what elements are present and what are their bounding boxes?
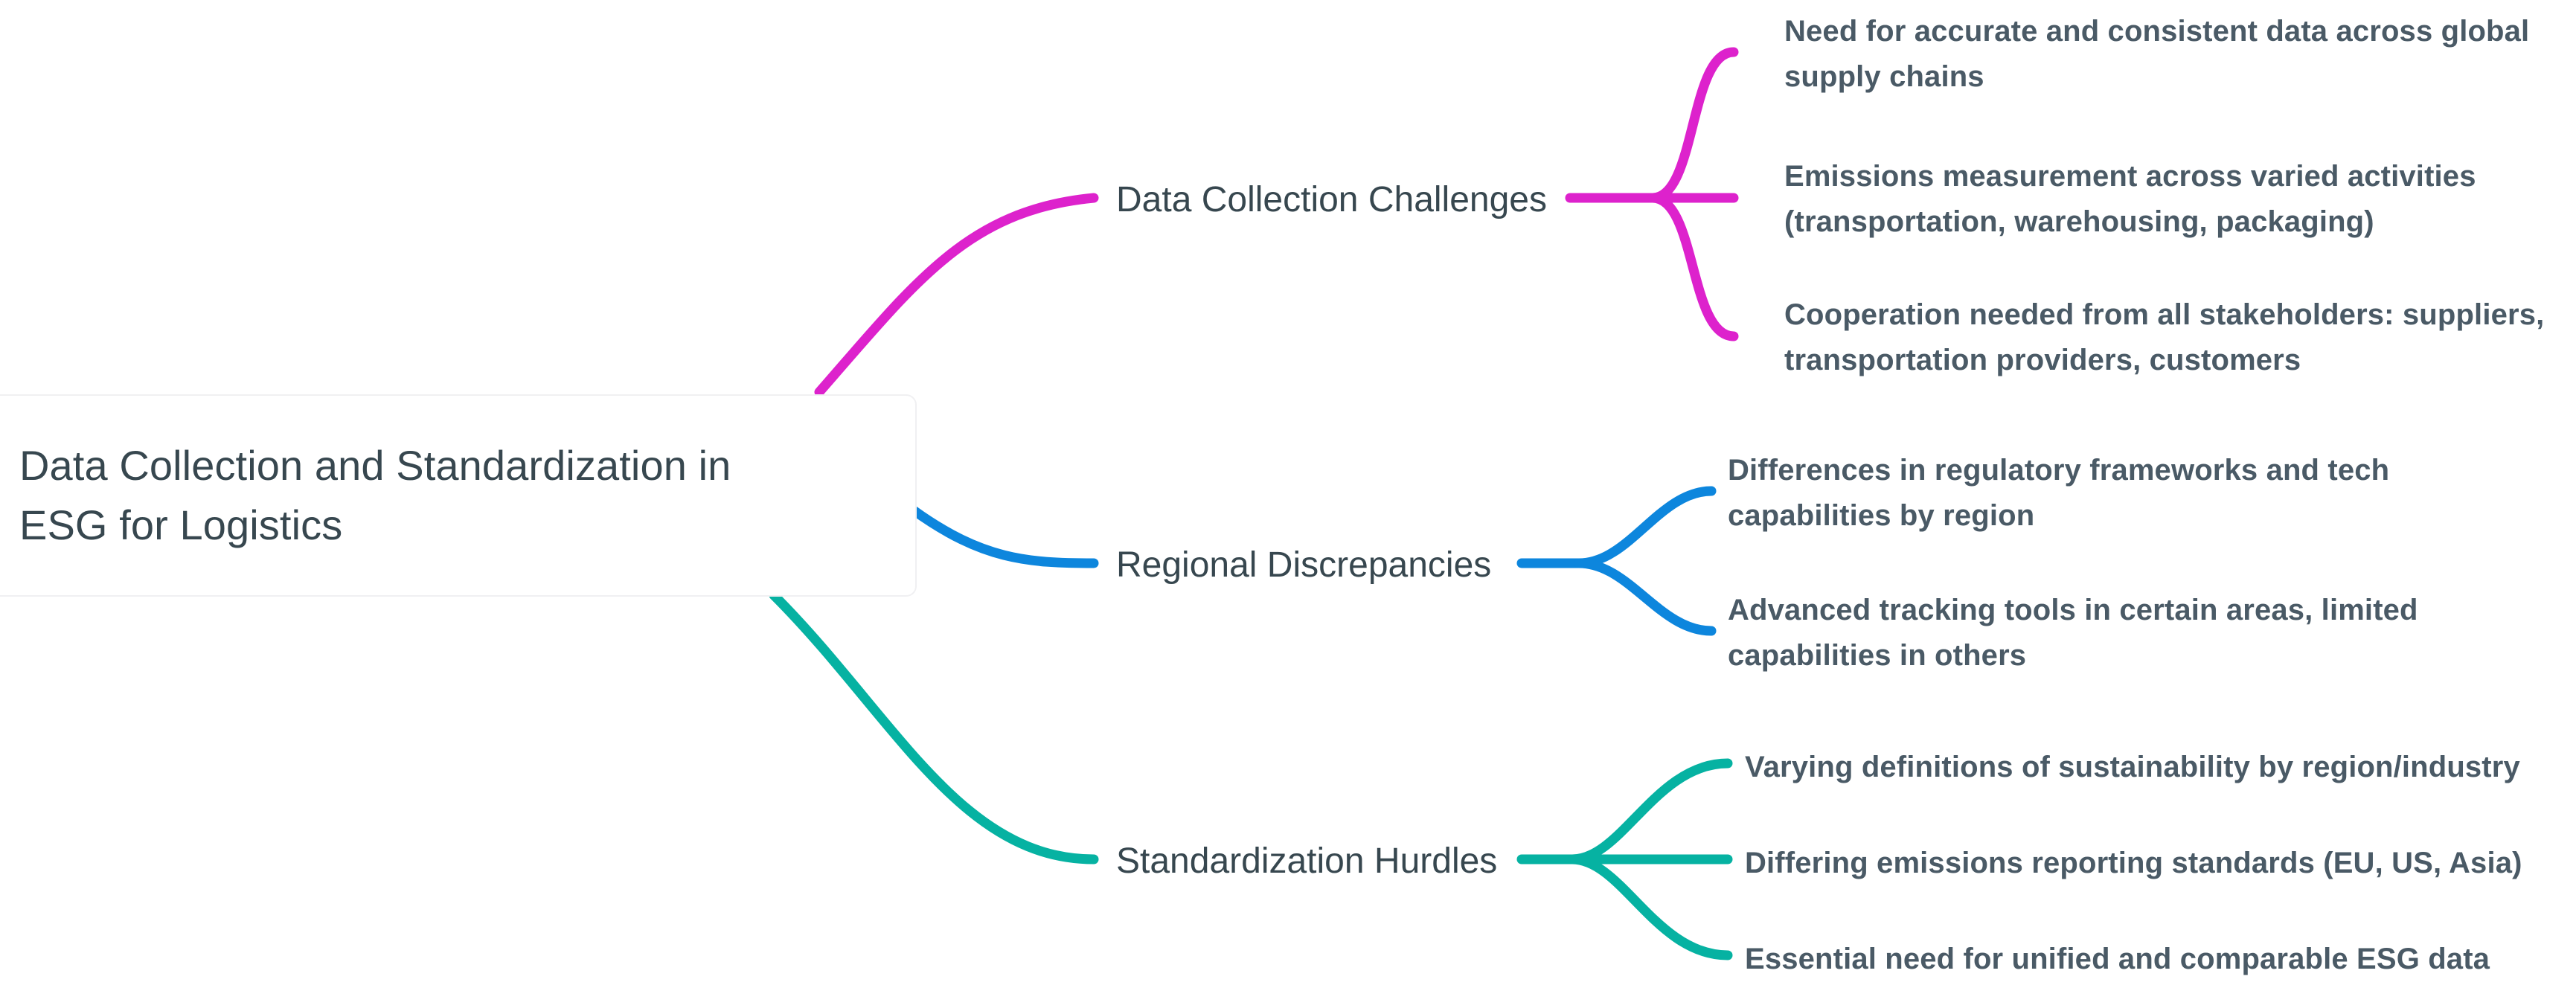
edge-fan-rd-child-2 — [1579, 563, 1711, 631]
root-title-line-1: Data Collection and Standardization in — [19, 442, 731, 489]
branch-label-data-collection-challenges[interactable]: Data Collection Challenges — [1116, 179, 1547, 222]
leaf-dcc-child-1-line-2: supply chains — [1784, 60, 1984, 93]
edge-fan-sh-child-3 — [1572, 859, 1728, 955]
edge-group-data-collection-challenges — [819, 52, 1734, 392]
root-node-title: Data Collection and Standardization in E… — [19, 436, 731, 554]
leaf-dcc-child-2[interactable]: Emissions measurement across varied acti… — [1784, 154, 2576, 245]
leaf-rd-child-1[interactable]: Differences in regulatory frameworks and… — [1728, 448, 2546, 539]
leaf-sh-child-2[interactable]: Differing emissions reporting standards … — [1745, 841, 2576, 886]
leaf-sh-child-2-line-1: Differing emissions reporting standards … — [1745, 847, 2522, 879]
edge-fan-dcc-child-3 — [1653, 198, 1734, 336]
leaf-sh-child-1[interactable]: Varying definitions of sustainability by… — [1745, 745, 2576, 790]
root-title-line-2: ESG for Logistics — [19, 501, 342, 548]
leaf-rd-child-2-line-2: capabilities in others — [1728, 639, 2026, 672]
mindmap-canvas: Data Collection and Standardization in E… — [0, 0, 2576, 988]
leaf-rd-child-2-line-1: Advanced tracking tools in certain areas… — [1728, 594, 2418, 626]
edge-root-to-data-collection-challenges — [819, 198, 1094, 392]
leaf-dcc-child-3-line-2: transportation providers, customers — [1784, 344, 2301, 376]
leaf-dcc-child-1[interactable]: Need for accurate and consistent data ac… — [1784, 9, 2576, 100]
leaf-sh-child-3-line-1: Essential need for unified and comparabl… — [1745, 943, 2490, 975]
branch-label-regional-discrepancies[interactable]: Regional Discrepancies — [1116, 544, 1491, 587]
leaf-dcc-child-2-line-2: (transportation, warehousing, packaging) — [1784, 205, 2374, 238]
leaf-rd-child-1-line-2: capabilities by region — [1728, 499, 2034, 532]
edge-root-to-standardization-hurdles — [774, 595, 1094, 859]
leaf-rd-child-2[interactable]: Advanced tracking tools in certain areas… — [1728, 588, 2546, 679]
edge-group-standardization-hurdles — [774, 595, 1728, 955]
edge-fan-sh-child-1 — [1572, 763, 1728, 859]
root-node[interactable]: Data Collection and Standardization in E… — [0, 394, 917, 597]
leaf-dcc-child-2-line-1: Emissions measurement across varied acti… — [1784, 160, 2476, 193]
edge-root-to-regional-discrepancies — [914, 510, 1094, 563]
edge-fan-dcc-child-1 — [1653, 52, 1734, 198]
edge-fan-rd-child-1 — [1579, 491, 1711, 563]
leaf-dcc-child-3-line-1: Cooperation needed from all stakeholders… — [1784, 298, 2544, 331]
leaf-dcc-child-1-line-1: Need for accurate and consistent data ac… — [1784, 15, 2529, 48]
leaf-sh-child-1-line-1: Varying definitions of sustainability by… — [1745, 751, 2520, 783]
branch-label-standardization-hurdles[interactable]: Standardization Hurdles — [1116, 840, 1497, 883]
leaf-dcc-child-3[interactable]: Cooperation needed from all stakeholders… — [1784, 292, 2576, 383]
leaf-rd-child-1-line-1: Differences in regulatory frameworks and… — [1728, 454, 2389, 487]
leaf-sh-child-3[interactable]: Essential need for unified and comparabl… — [1745, 937, 2576, 982]
